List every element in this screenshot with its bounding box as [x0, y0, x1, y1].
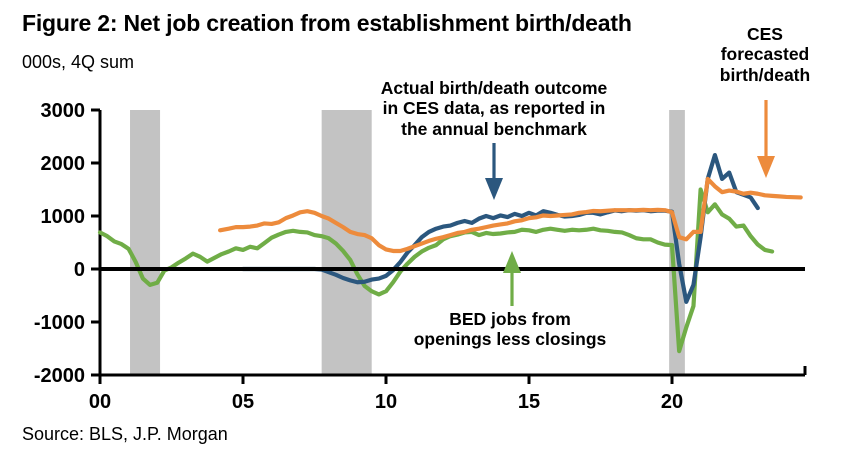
arrow-ces-forecast — [757, 100, 775, 178]
annotation-bed: BED jobs from openings less closings — [399, 309, 621, 350]
x-axis-tick-label: 15 — [518, 391, 540, 413]
y-axis-tick-label: 0 — [74, 259, 85, 281]
arrow-ces-actual — [485, 143, 503, 200]
figure-container: Figure 2: Net job creation from establis… — [0, 0, 852, 459]
x-axis-tick-label: 10 — [375, 391, 397, 413]
figure-source: Source: BLS, J.P. Morgan — [22, 424, 228, 445]
x-axis-tick-label: 20 — [661, 391, 683, 413]
y-axis-tick-label: 2000 — [41, 153, 86, 175]
y-axis: 3000200010000-1000-2000 — [34, 100, 100, 387]
recession-band — [130, 110, 160, 375]
x-axis-tick-label: 00 — [89, 391, 111, 413]
y-axis-tick-label: -1000 — [34, 312, 85, 334]
annotation-ces-forecast: CES forecasted birth/death — [706, 24, 824, 85]
recession-band — [322, 110, 372, 375]
y-axis-tick-label: 1000 — [41, 206, 86, 228]
y-axis-tick-label: -2000 — [34, 365, 85, 387]
x-axis-tick-label: 05 — [232, 391, 254, 413]
annotation-ces-actual: Actual birth/death outcome in CES data, … — [358, 78, 630, 139]
x-axis: 0005101520 — [89, 366, 805, 413]
arrow-ces-forecast-head — [757, 156, 775, 178]
arrow-bed-head — [503, 251, 521, 273]
y-axis-tick-label: 3000 — [41, 100, 86, 122]
arrow-ces-actual-head — [485, 178, 503, 200]
arrow-bed — [503, 251, 521, 306]
